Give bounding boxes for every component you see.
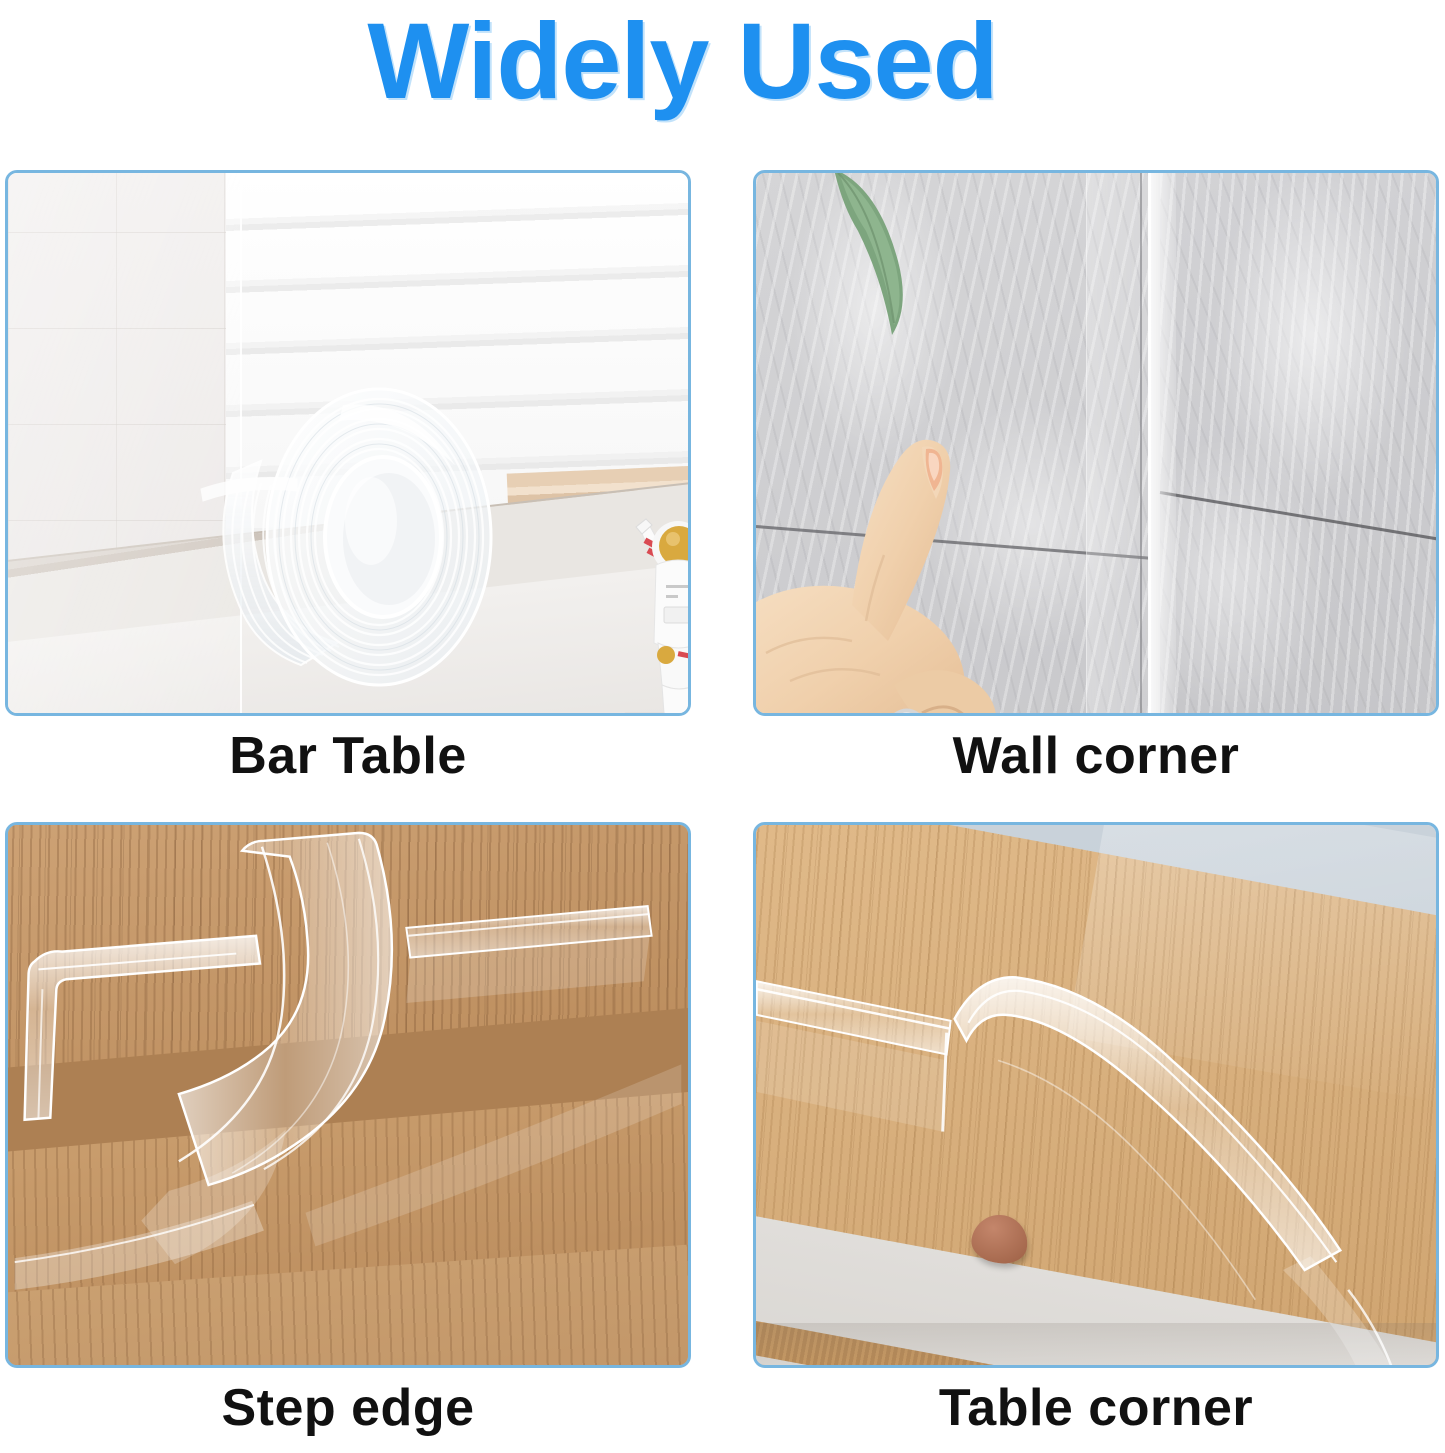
- panel-wall-corner: [753, 170, 1439, 716]
- protector-strips: [8, 825, 688, 1365]
- caption-bar-table: Bar Table: [5, 726, 691, 786]
- photo-table-corner: [753, 822, 1439, 1368]
- corner-protector-strip: [756, 825, 1436, 1365]
- panel-table-corner: [753, 822, 1439, 1368]
- astronaut-figurine: [622, 503, 688, 713]
- green-leaf: [816, 173, 926, 359]
- photo-bar-table: [5, 170, 691, 716]
- caption-step-edge: Step edge: [5, 1378, 691, 1438]
- infographic-page: Widely Used: [0, 0, 1445, 1453]
- tape-roll: [193, 361, 509, 713]
- corner-tape-right-face: [1148, 173, 1176, 713]
- panel-step-edge: [5, 822, 691, 1368]
- panel-grid: Bar Table: [0, 0, 1445, 1453]
- marble-tile-right: [1160, 173, 1436, 713]
- caption-wall-corner: Wall corner: [753, 726, 1439, 786]
- hand: [756, 413, 1146, 713]
- photo-wall-corner: [753, 170, 1439, 716]
- panel-bar-table: [5, 170, 691, 716]
- photo-step-edge: [5, 822, 691, 1368]
- caption-table-corner: Table corner: [753, 1378, 1439, 1438]
